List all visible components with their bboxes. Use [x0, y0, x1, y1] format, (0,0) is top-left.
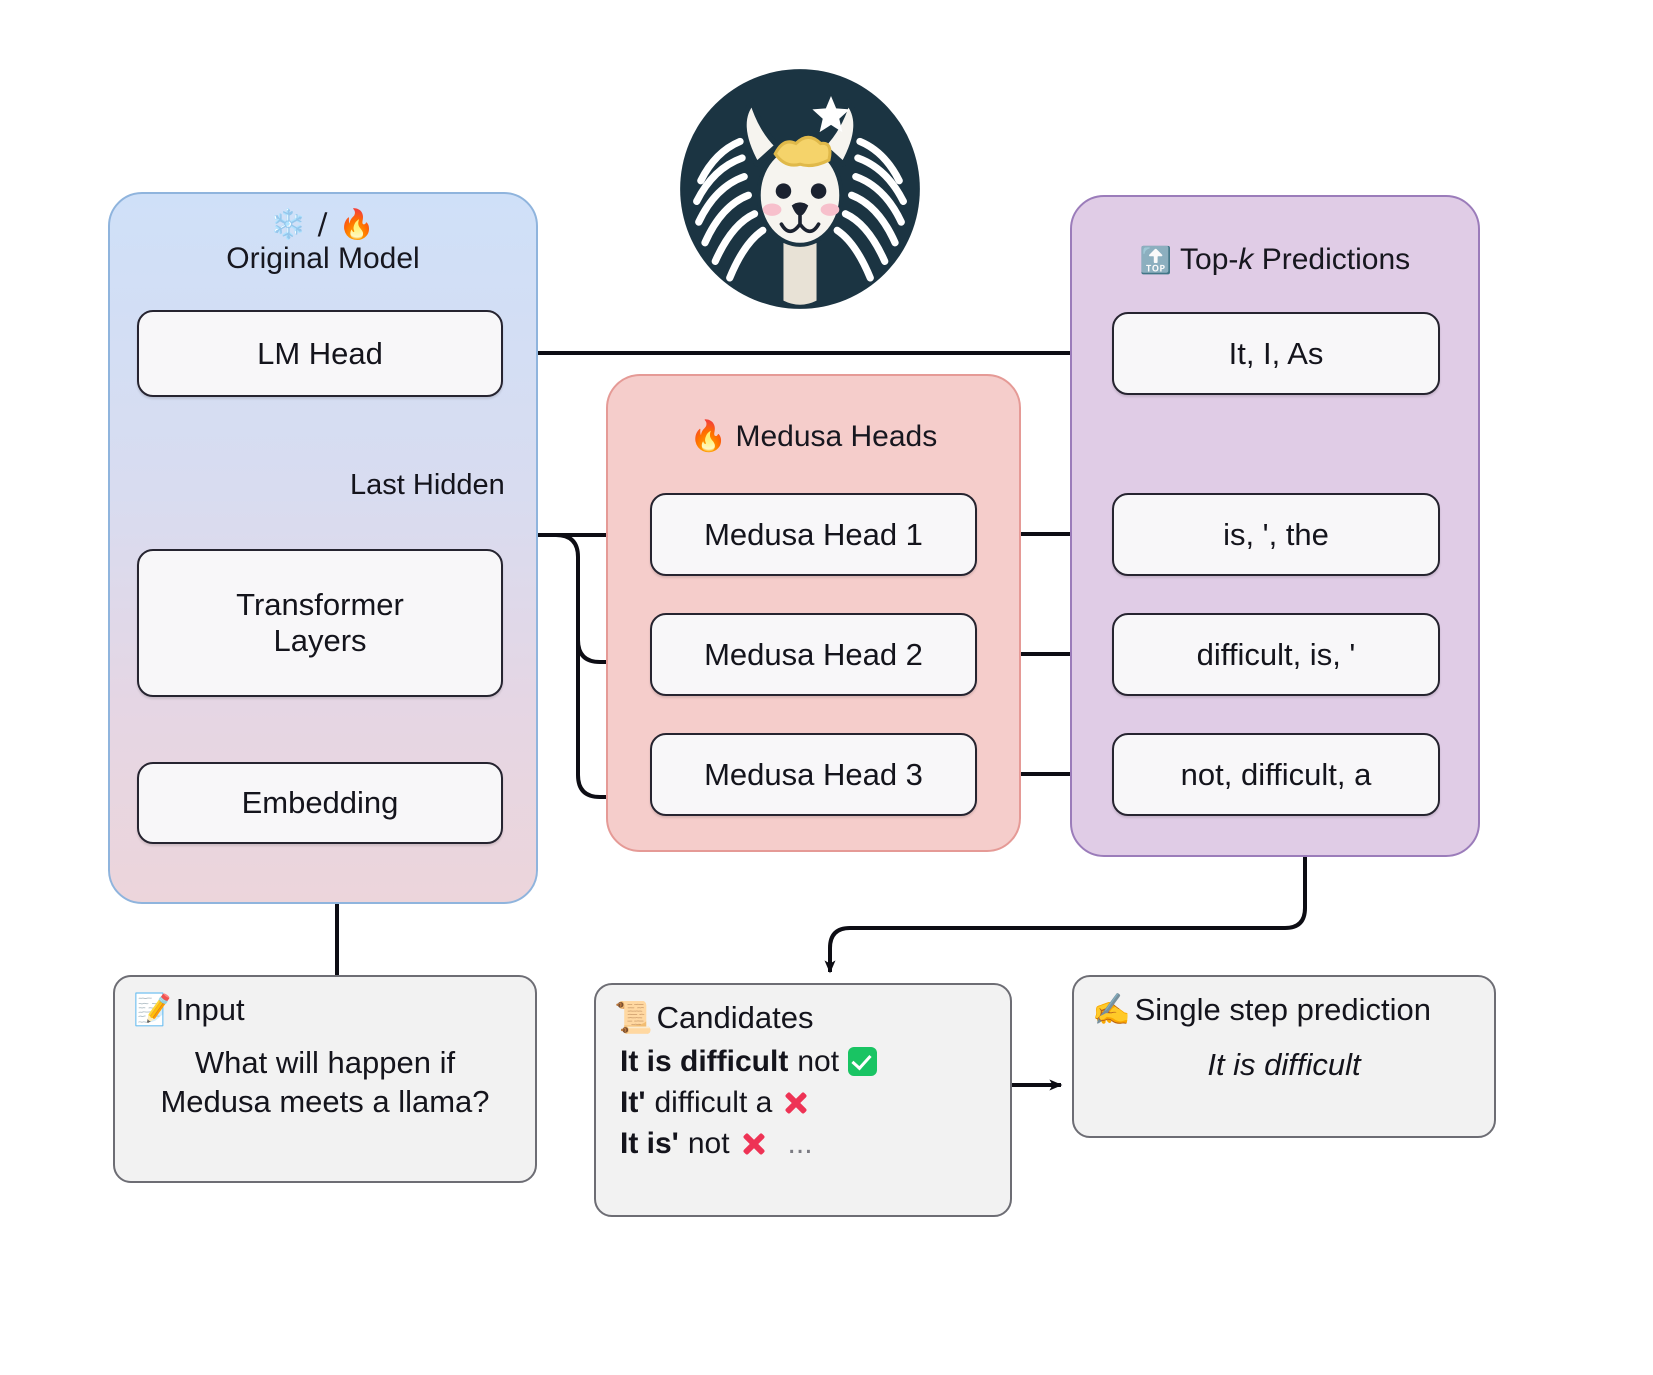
cross-mark-icon [781, 1088, 811, 1118]
candidates-card: 📜Candidates It is difficult not It' diff… [594, 983, 1012, 1217]
node-transformer-layers-label: Transformer Layers [236, 587, 404, 659]
original-model-title-label: Original Model [226, 242, 419, 275]
node-medusa-head-3[interactable]: Medusa Head 3 [650, 733, 977, 816]
writing-hand-icon: ✍️ [1092, 992, 1131, 1028]
memo-icon: 📝 [133, 992, 172, 1028]
single-step-prediction-card: ✍️Single step prediction It is difficult [1072, 975, 1496, 1138]
fire-icon: 🔥 [690, 419, 727, 454]
input-text-line1: What will happen if [195, 1045, 455, 1080]
medusa-heads-title-label: Medusa Heads [735, 420, 937, 453]
candidates-card-title-label: Candidates [657, 1000, 814, 1035]
candidate-row-1[interactable]: It' difficult a [614, 1082, 992, 1123]
node-prediction-2-label: difficult, is, ' [1197, 637, 1356, 673]
node-prediction-1[interactable]: is, ', the [1112, 493, 1440, 576]
edge-topk-to-candidates [830, 857, 1305, 972]
medusa-heads-title: 🔥 Medusa Heads [608, 420, 1019, 454]
cross-mark-icon [739, 1129, 769, 1159]
topk-predictions-title: 🔝 Top-k Predictions [1072, 243, 1478, 277]
input-card-text: What will happen if Medusa meets a llama… [133, 1043, 517, 1121]
frozen-or-trained-icons: ❄️ / 🔥 [110, 208, 536, 240]
candidate-1-accepted: It' [620, 1083, 645, 1122]
scroll-icon: 📜 [614, 1000, 653, 1036]
node-transformer-layers[interactable]: Transformer Layers [137, 549, 503, 697]
node-lm-head[interactable]: LM Head [137, 310, 503, 397]
candidate-1-rest: difficult a [654, 1083, 772, 1122]
candidate-0-accepted: It is difficult [620, 1042, 788, 1081]
candidates-list: It is difficult not It' difficult a It i… [614, 1041, 992, 1164]
node-prediction-2[interactable]: difficult, is, ' [1112, 613, 1440, 696]
topk-title-suffix: Predictions [1253, 243, 1410, 276]
transformer-line1: Transformer [236, 587, 404, 622]
candidates-card-title: 📜Candidates [614, 999, 992, 1037]
node-prediction-3[interactable]: not, difficult, a [1112, 733, 1440, 816]
node-prediction-0[interactable]: It, I, As [1112, 312, 1440, 395]
node-lm-head-label: LM Head [257, 336, 383, 372]
candidate-2-rest: not [688, 1124, 730, 1163]
input-card-title: 📝Input [133, 991, 517, 1029]
single-step-card-title-label: Single step prediction [1135, 992, 1431, 1027]
single-step-card-title: ✍️Single step prediction [1092, 991, 1476, 1029]
node-prediction-0-label: It, I, As [1229, 336, 1324, 372]
node-prediction-1-label: is, ', the [1223, 517, 1329, 553]
topk-title-k: k [1238, 243, 1253, 276]
candidate-0-rest: not [797, 1042, 839, 1081]
single-step-result: It is difficult [1092, 1045, 1476, 1084]
candidates-ellipsis: ... [788, 1124, 813, 1163]
transformer-line2: Layers [273, 623, 366, 658]
edge-label-last-hidden: Last Hidden [350, 469, 505, 502]
node-prediction-3-label: not, difficult, a [1181, 757, 1372, 793]
input-text-line2: Medusa meets a llama? [160, 1084, 489, 1119]
node-medusa-head-2-label: Medusa Head 2 [704, 637, 923, 673]
input-card: 📝Input What will happen if Medusa meets … [113, 975, 537, 1183]
node-medusa-head-3-label: Medusa Head 3 [704, 757, 923, 793]
medusa-llama-logo-icon [676, 65, 924, 313]
candidate-row-2[interactable]: It is' not ... [614, 1123, 992, 1164]
original-model-title: ❄️ / 🔥 Original Model [110, 208, 536, 276]
node-embedding[interactable]: Embedding [137, 762, 503, 844]
diagram-canvas: ❄️ / 🔥 Original Model LM Head Transforme… [0, 0, 1653, 1375]
topk-title-prefix: Top- [1180, 243, 1238, 276]
node-embedding-label: Embedding [242, 785, 399, 821]
candidate-2-accepted: It is' [620, 1124, 679, 1163]
check-mark-icon [848, 1047, 877, 1076]
node-medusa-head-1[interactable]: Medusa Head 1 [650, 493, 977, 576]
input-card-title-label: Input [176, 992, 245, 1027]
candidate-row-0[interactable]: It is difficult not [614, 1041, 992, 1082]
top-arrow-icon: 🔝 [1140, 246, 1172, 276]
node-medusa-head-2[interactable]: Medusa Head 2 [650, 613, 977, 696]
node-medusa-head-1-label: Medusa Head 1 [704, 517, 923, 553]
